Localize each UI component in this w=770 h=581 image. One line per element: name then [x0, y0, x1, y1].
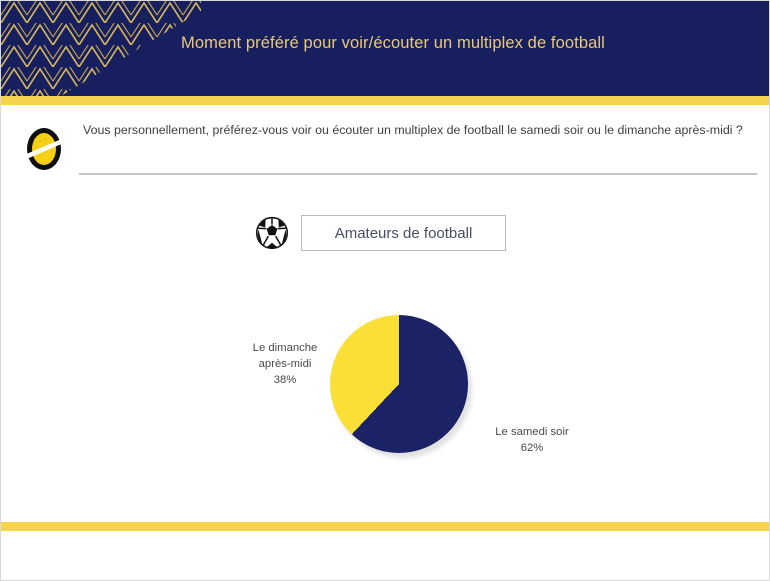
pie-slice-value-samedi: 62% [471, 440, 593, 456]
footer: OD XA L'Opinion tranchée RTL [1, 531, 770, 581]
header-band: Moment préféré pour voir/écouter un mult… [1, 1, 770, 96]
header-accent-band [1, 96, 770, 105]
slide-root: Moment préféré pour voir/écouter un mult… [0, 0, 770, 581]
question-text: Vous personnellement, préférez-vous voir… [83, 120, 755, 140]
football-icon [255, 216, 289, 250]
segment-label: Amateurs de football [335, 225, 473, 242]
pie-slice-label-line1: Le samedi soir [471, 424, 593, 440]
pie-slice-label-line2: après-midi [229, 356, 341, 372]
pie-slice-value-dimanche: 38% [229, 372, 341, 388]
pie-slice-label-line1: Le dimanche [229, 340, 341, 356]
odoxa-mark-icon [21, 125, 67, 173]
pie-chart [330, 315, 472, 457]
footer-accent-band [1, 522, 770, 531]
segment-label-box[interactable]: Amateurs de football [301, 215, 506, 251]
pie-disc[interactable] [330, 315, 468, 453]
pie-slice-label-samedi: Le samedi soir 62% [471, 424, 593, 456]
question-divider [79, 173, 757, 175]
pie-slice-label-dimanche: Le dimanche après-midi 38% [229, 340, 341, 388]
page-title: Moment préféré pour voir/écouter un mult… [181, 34, 741, 53]
